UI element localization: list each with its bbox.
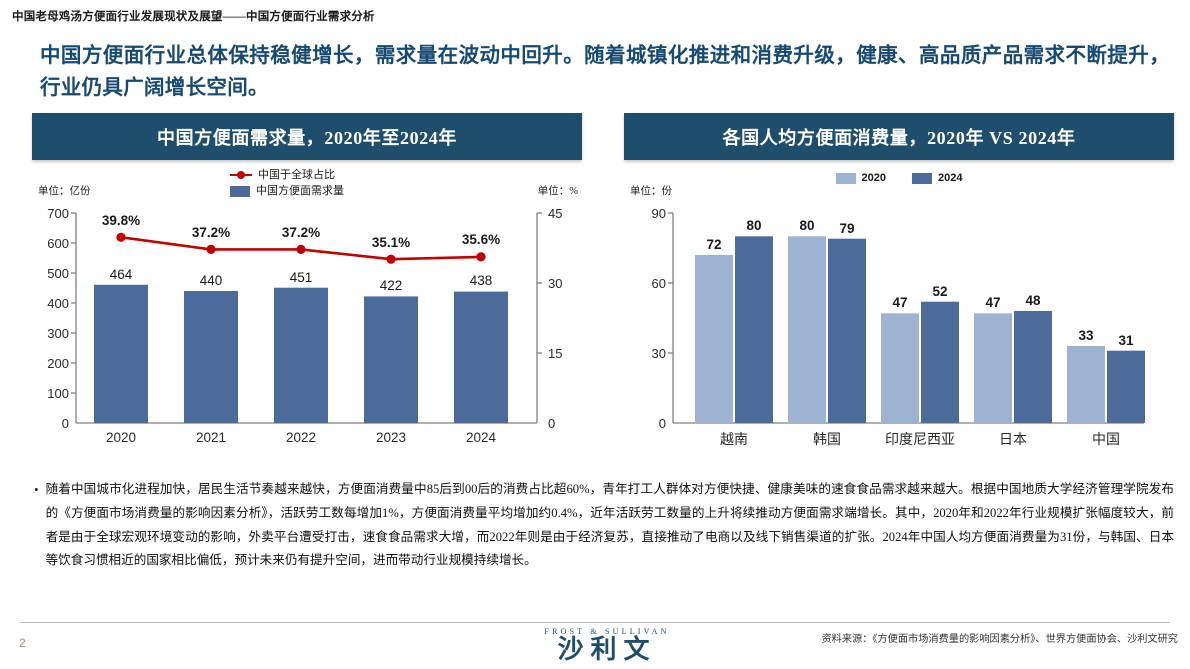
bar-japan-2020[interactable] — [974, 313, 1012, 423]
y-axis-right-labels: 45 30 15 0 — [548, 206, 562, 431]
svg-text:2023: 2023 — [376, 430, 406, 445]
chart-svg-right: 90 60 30 0 — [624, 201, 1174, 463]
svg-text:79: 79 — [839, 221, 854, 236]
svg-text:440: 440 — [200, 273, 223, 288]
svg-text:80: 80 — [746, 218, 761, 233]
svg-text:2021: 2021 — [196, 430, 226, 445]
legend-item-2024[interactable]: 2024 — [912, 170, 962, 186]
svg-text:韩国: 韩国 — [813, 432, 841, 448]
bar-2020[interactable] — [94, 285, 148, 423]
chart-title-banner-left: 中国方便面需求量，2020年至2024年 — [32, 113, 582, 160]
svg-text:200: 200 — [47, 356, 69, 371]
bar-indonesia-2024[interactable] — [921, 302, 959, 423]
svg-text:80: 80 — [799, 218, 814, 233]
bar-2024[interactable] — [454, 292, 508, 423]
brand-logo-cn: 沙利文 — [522, 636, 692, 664]
svg-text:39.8%: 39.8% — [102, 213, 140, 228]
chart-title-left: 中国方便面需求量，2020年至2024年 — [157, 124, 457, 150]
legend-item-share[interactable]: 中国于全球占比 — [230, 167, 335, 183]
svg-text:47: 47 — [892, 295, 907, 310]
page-number: 2 — [19, 636, 26, 650]
bar-swatch-light-icon — [836, 173, 856, 184]
bar-vietnam-2020[interactable] — [695, 255, 733, 423]
svg-text:451: 451 — [290, 270, 313, 285]
svg-text:35.1%: 35.1% — [372, 235, 410, 250]
legend-label-2020: 2020 — [862, 170, 886, 186]
svg-text:越南: 越南 — [720, 432, 748, 448]
svg-text:30: 30 — [652, 346, 666, 361]
svg-text:2024: 2024 — [466, 430, 497, 445]
svg-text:15: 15 — [548, 346, 562, 361]
svg-text:72: 72 — [706, 237, 721, 252]
bar-indonesia-2020[interactable] — [881, 313, 919, 423]
line-point-2022[interactable] — [296, 245, 305, 254]
chart-panel-china-demand: 中国方便面需求量，2020年至2024年 单位：亿份 单位：% 中国于全球占比 … — [32, 113, 582, 463]
svg-text:464: 464 — [110, 267, 133, 282]
x-axis-labels-right-chart: 越南 韩国 印度尼西亚 日本 中国 — [720, 432, 1120, 448]
svg-text:400: 400 — [47, 296, 69, 311]
svg-text:600: 600 — [47, 236, 69, 251]
svg-text:0: 0 — [62, 416, 69, 431]
y-axis-left-ticks — [71, 213, 76, 393]
svg-text:60: 60 — [652, 276, 666, 291]
line-point-2020[interactable] — [116, 233, 125, 242]
y-axis-ticks-right-chart — [668, 213, 673, 353]
svg-text:90: 90 — [652, 206, 666, 221]
bar-swatch-dark-icon — [912, 173, 932, 184]
y-axis-labels-right-chart: 90 60 30 0 — [652, 206, 666, 431]
svg-text:35.6%: 35.6% — [462, 232, 500, 247]
svg-text:45: 45 — [548, 206, 562, 221]
bullet-text: 随着中国城市化进程加快，居民生活节奏越来越快，方便面消费量中85后到00后的消费… — [46, 478, 1174, 573]
bar-2021[interactable] — [184, 291, 238, 423]
y-axis-right-ticks — [537, 213, 542, 353]
body-text-block: • 随着中国城市化进程加快，居民生活节奏越来越快，方便面消费量中85后到00后的… — [34, 478, 1174, 573]
bar-vietnam-2024[interactable] — [735, 236, 773, 423]
svg-text:438: 438 — [470, 273, 493, 288]
chart-title-banner-right: 各国人均方便面消费量，2020年 VS 2024年 — [624, 113, 1174, 160]
svg-text:48: 48 — [1025, 293, 1041, 308]
svg-text:500: 500 — [47, 266, 69, 281]
svg-text:37.2%: 37.2% — [192, 225, 230, 240]
chart-svg-left: 700 600 500 400 300 200 227 0 100 — [32, 201, 582, 463]
line-point-2021[interactable] — [206, 245, 215, 254]
footer-divider — [20, 622, 1170, 623]
svg-text:2020: 2020 — [106, 430, 136, 445]
chart-legend-right: 2020 2024 — [624, 170, 1174, 186]
plot-area-right: 90 60 30 0 — [624, 201, 1174, 463]
line-point-2023[interactable] — [386, 255, 395, 264]
legend-label-2024: 2024 — [938, 170, 962, 186]
bar-group-left — [94, 285, 508, 423]
legend-label-share: 中国于全球占比 — [258, 167, 335, 183]
chart-title-right: 各国人均方便面消费量，2020年 VS 2024年 — [722, 124, 1075, 150]
line-marker-icon — [230, 170, 252, 181]
x-axis-labels-left: 2020 2021 2022 2023 2024 — [106, 430, 497, 445]
bar-korea-2020[interactable] — [788, 236, 826, 423]
legend-item-demand[interactable]: 中国方便面需求量 — [230, 183, 344, 199]
svg-text:52: 52 — [932, 284, 947, 299]
svg-text:100: 100 — [47, 386, 69, 401]
svg-text:47: 47 — [985, 295, 1000, 310]
bar-japan-2024[interactable] — [1014, 311, 1052, 423]
svg-text:30: 30 — [548, 276, 562, 291]
svg-text:300: 300 — [47, 326, 69, 341]
plot-area-left: 700 600 500 400 300 200 227 0 100 — [32, 201, 582, 463]
bar-china-2020[interactable] — [1067, 346, 1105, 423]
line-point-2024[interactable] — [476, 252, 485, 261]
svg-text:中国: 中国 — [1092, 432, 1120, 448]
svg-text:33: 33 — [1078, 328, 1094, 343]
unit-label-right-axis-1: 单位：% — [538, 183, 578, 198]
bar-swatch-icon — [230, 186, 250, 197]
chart-panel-per-capita: 各国人均方便面消费量，2020年 VS 2024年 单位：份 2020 2024… — [624, 113, 1174, 463]
bullet-item: • 随着中国城市化进程加快，居民生活节奏越来越快，方便面消费量中85后到00后的… — [34, 478, 1174, 573]
slide-kicker: 中国老母鸡汤方便面行业发展现状及展望——中国方便面行业需求分析 — [12, 8, 375, 24]
svg-text:31: 31 — [1118, 333, 1134, 348]
brand-logo: FROST & SULLIVAN 沙利文 — [522, 627, 692, 664]
line-value-labels-left: 39.8% 37.2% 37.2% 35.1% 35.6% — [102, 213, 500, 250]
chart-legend-left: 中国于全球占比 中国方便面需求量 — [230, 167, 344, 199]
unit-label-left-axis-1: 单位：亿份 — [38, 183, 91, 198]
slide: 中国老母鸡汤方便面行业发展现状及展望——中国方便面行业需求分析 中国方便面行业总… — [0, 0, 1190, 669]
svg-text:0: 0 — [659, 416, 666, 431]
legend-label-demand: 中国方便面需求量 — [256, 183, 344, 199]
svg-text:2022: 2022 — [286, 430, 316, 445]
svg-text:日本: 日本 — [999, 432, 1027, 448]
bar-2023[interactable] — [364, 296, 418, 423]
svg-text:700: 700 — [47, 206, 69, 221]
source-note: 资料来源：《方便面市场消费量的影响因素分析》、世界方便面协会、沙利文研究 — [821, 630, 1178, 645]
svg-text:0: 0 — [548, 416, 555, 431]
svg-text:37.2%: 37.2% — [282, 225, 320, 240]
bar-china-2024[interactable] — [1107, 351, 1145, 423]
bar-korea-2024[interactable] — [828, 239, 866, 423]
slide-headline: 中国方便面行业总体保持稳健增长，需求量在波动中回升。随着城镇化推进和消费升级，健… — [40, 40, 1170, 104]
bullet-dot-icon: • — [34, 478, 39, 573]
bar-2022[interactable] — [274, 288, 328, 423]
legend-item-2020[interactable]: 2020 — [836, 170, 886, 186]
svg-text:印度尼西亚: 印度尼西亚 — [885, 432, 955, 448]
svg-text:422: 422 — [380, 278, 403, 293]
